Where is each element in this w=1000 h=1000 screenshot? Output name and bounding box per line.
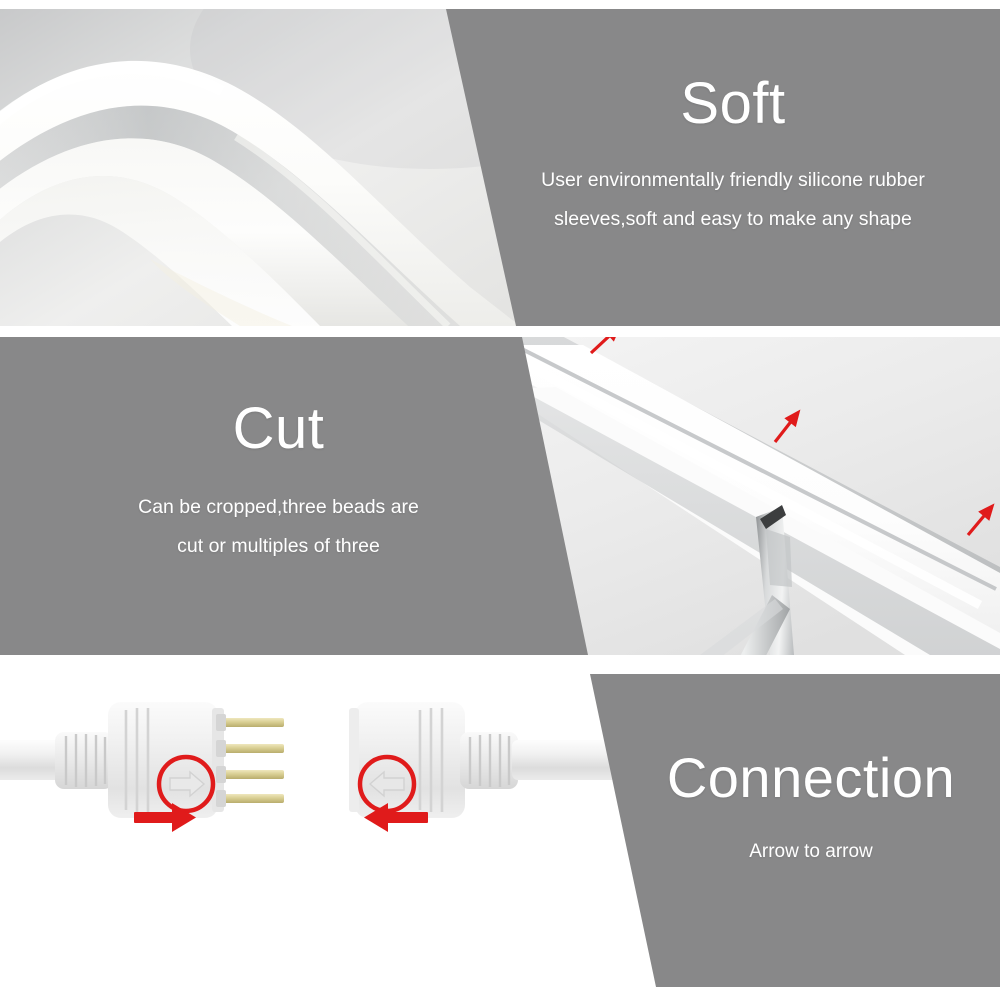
- cut-text-block: Cut Can be cropped,three beads are cut o…: [30, 400, 527, 566]
- soft-subtitle-line-2: sleeves,soft and easy to make any shape: [483, 200, 983, 239]
- infographic-page: Soft User environmentally friendly silic…: [0, 0, 1000, 1000]
- rgb-connector-illustration: [0, 674, 700, 987]
- cut-subtitle-line-2: cut or multiples of three: [30, 527, 527, 566]
- soft-photo: [0, 9, 520, 326]
- connection-title: Connection: [622, 750, 1000, 806]
- soft-text-block: Soft User environmentally friendly silic…: [483, 75, 983, 239]
- connection-text-block: Connection Arrow to arrow: [622, 750, 1000, 871]
- silicone-arch-illustration: [0, 9, 520, 326]
- connection-photo: [0, 674, 700, 987]
- connection-subtitle-line-1: Arrow to arrow: [622, 832, 1000, 871]
- cut-subtitle-line-1: Can be cropped,three beads are: [30, 488, 527, 527]
- cut-title: Cut: [30, 400, 527, 458]
- soft-subtitle-line-1: User environmentally friendly silicone r…: [483, 161, 983, 200]
- soft-title: Soft: [483, 75, 983, 133]
